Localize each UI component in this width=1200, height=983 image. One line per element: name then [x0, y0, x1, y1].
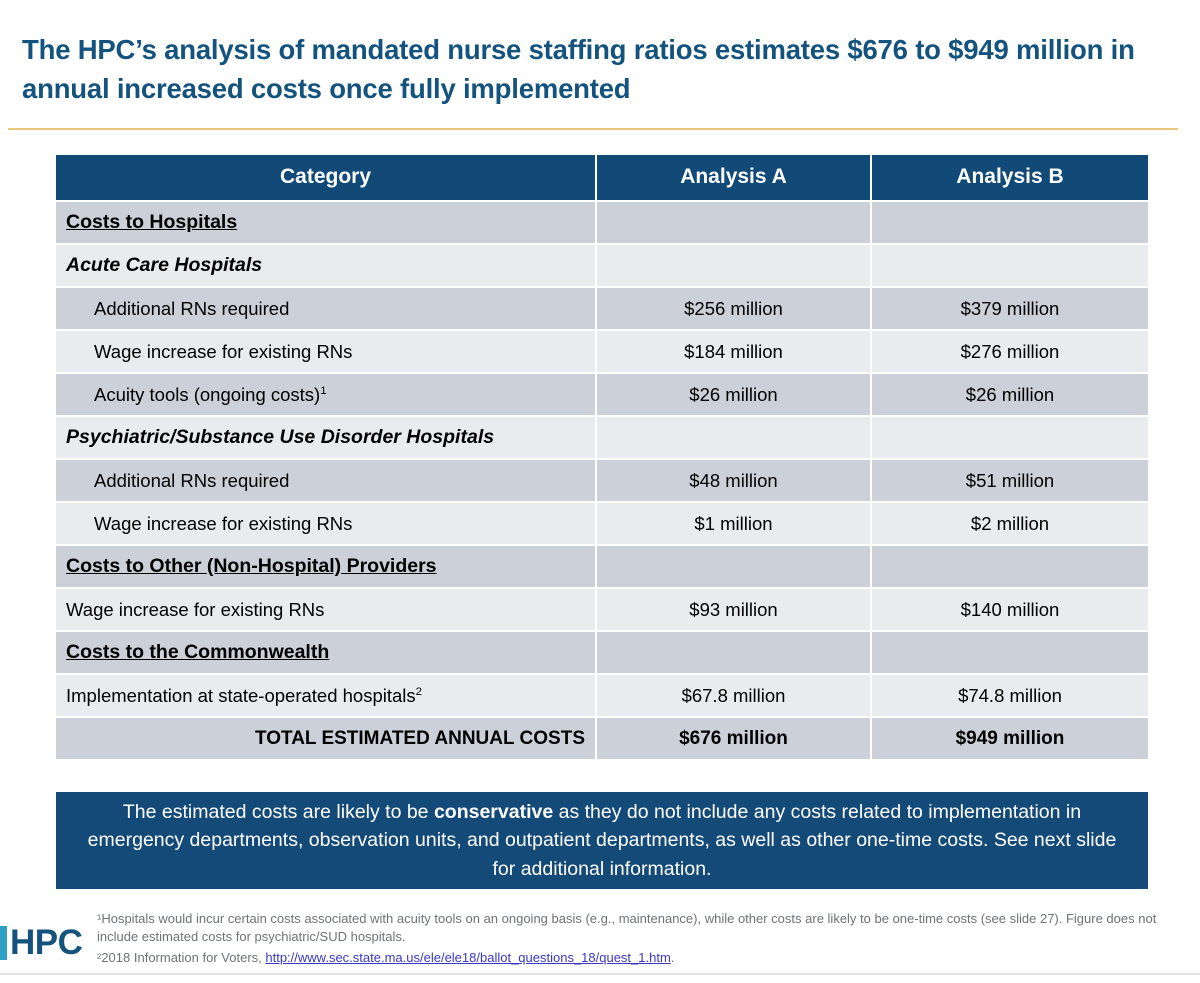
cost-estimate-table: Category Analysis A Analysis B Costs to … [56, 155, 1148, 759]
cell-analysis-a [597, 245, 872, 288]
table-row: Implementation at state-operated hospita… [56, 675, 1148, 718]
footnote-marker: 2 [416, 685, 422, 697]
title-divider [8, 128, 1178, 130]
callout-text: The estimated costs are likely to be con… [56, 798, 1148, 884]
cell-analysis-b [872, 417, 1148, 460]
cell-analysis-a: $1 million [597, 503, 872, 546]
cell-analysis-a [597, 632, 872, 675]
column-header-analysis-b: Analysis B [872, 155, 1148, 202]
cell-analysis-a [597, 417, 872, 460]
cell-analysis-b [872, 632, 1148, 675]
column-header-analysis-a: Analysis A [597, 155, 872, 202]
total-analysis-b: $949 million [872, 718, 1148, 759]
cell-analysis-a: $67.8 million [597, 675, 872, 718]
cell-analysis-b [872, 202, 1148, 245]
column-header-category: Category [56, 155, 597, 202]
group-label: Acute Care Hospitals [56, 245, 597, 288]
footnote-marker: 1 [320, 384, 326, 396]
logo-accent-bar [0, 926, 7, 960]
table-group-row: Acute Care Hospitals [56, 245, 1148, 288]
section-label: Costs to Hospitals [56, 202, 597, 245]
section-label: Costs to Other (Non-Hospital) Providers [56, 546, 597, 589]
cell-analysis-a: $93 million [597, 589, 872, 632]
page-title: The HPC’s analysis of mandated nurse sta… [22, 30, 1162, 109]
footnote-2: ²2018 Information for Voters, http://www… [97, 949, 1187, 967]
cell-analysis-b: $74.8 million [872, 675, 1148, 718]
table-row: Additional RNs required$256 million$379 … [56, 288, 1148, 331]
bottom-divider [0, 973, 1200, 975]
table-row: Wage increase for existing RNs$1 million… [56, 503, 1148, 546]
logo-text: HPC [10, 923, 82, 963]
cell-analysis-b: $26 million [872, 374, 1148, 417]
table-row: Wage increase for existing RNs$184 milli… [56, 331, 1148, 374]
cell-analysis-b: $51 million [872, 460, 1148, 503]
cell-analysis-a: $256 million [597, 288, 872, 331]
cell-category: Implementation at state-operated hospita… [56, 675, 597, 718]
footnotes: ¹Hospitals would incur certain costs ass… [97, 910, 1187, 969]
table-section-row: Costs to the Commonwealth [56, 632, 1148, 675]
cell-category: Additional RNs required [56, 288, 597, 331]
cell-category: Acuity tools (ongoing costs)1 [56, 374, 597, 417]
cell-analysis-b [872, 245, 1148, 288]
cell-category: Wage increase for existing RNs [56, 589, 597, 632]
callout-box: The estimated costs are likely to be con… [56, 792, 1148, 889]
cell-analysis-b: $379 million [872, 288, 1148, 331]
total-label: TOTAL ESTIMATED ANNUAL COSTS [56, 718, 597, 759]
group-label: Psychiatric/Substance Use Disorder Hospi… [56, 417, 597, 460]
callout-text-before: The estimated costs are likely to be [123, 801, 434, 823]
footnote-2-prefix: ²2018 Information for Voters, [97, 950, 265, 965]
cell-analysis-a: $184 million [597, 331, 872, 374]
footnote-1: ¹Hospitals would incur certain costs ass… [97, 910, 1187, 947]
table-group-row: Psychiatric/Substance Use Disorder Hospi… [56, 417, 1148, 460]
cell-analysis-a [597, 546, 872, 589]
table-row: Acuity tools (ongoing costs)1$26 million… [56, 374, 1148, 417]
cell-category: Wage increase for existing RNs [56, 331, 597, 374]
cell-analysis-b: $276 million [872, 331, 1148, 374]
cell-analysis-a [597, 202, 872, 245]
table-header-row: Category Analysis A Analysis B [56, 155, 1148, 202]
cell-category: Additional RNs required [56, 460, 597, 503]
cell-analysis-b: $2 million [872, 503, 1148, 546]
footnote-2-suffix: . [671, 950, 675, 965]
total-analysis-a: $676 million [597, 718, 872, 759]
hpc-logo: HPC [0, 918, 82, 968]
cell-analysis-b: $140 million [872, 589, 1148, 632]
table-row: Wage increase for existing RNs$93 millio… [56, 589, 1148, 632]
footnote-2-link[interactable]: http://www.sec.state.ma.us/ele/ele18/bal… [265, 950, 670, 965]
table-total-row: TOTAL ESTIMATED ANNUAL COSTS$676 million… [56, 718, 1148, 759]
cell-analysis-b [872, 546, 1148, 589]
table-section-row: Costs to Hospitals [56, 202, 1148, 245]
table-row: Additional RNs required$48 million$51 mi… [56, 460, 1148, 503]
table-body: Costs to HospitalsAcute Care HospitalsAd… [56, 202, 1148, 759]
cell-analysis-a: $48 million [597, 460, 872, 503]
cell-analysis-a: $26 million [597, 374, 872, 417]
section-label: Costs to the Commonwealth [56, 632, 597, 675]
table-section-row: Costs to Other (Non-Hospital) Providers [56, 546, 1148, 589]
cell-category: Wage increase for existing RNs [56, 503, 597, 546]
callout-emphasis: conservative [434, 801, 553, 823]
